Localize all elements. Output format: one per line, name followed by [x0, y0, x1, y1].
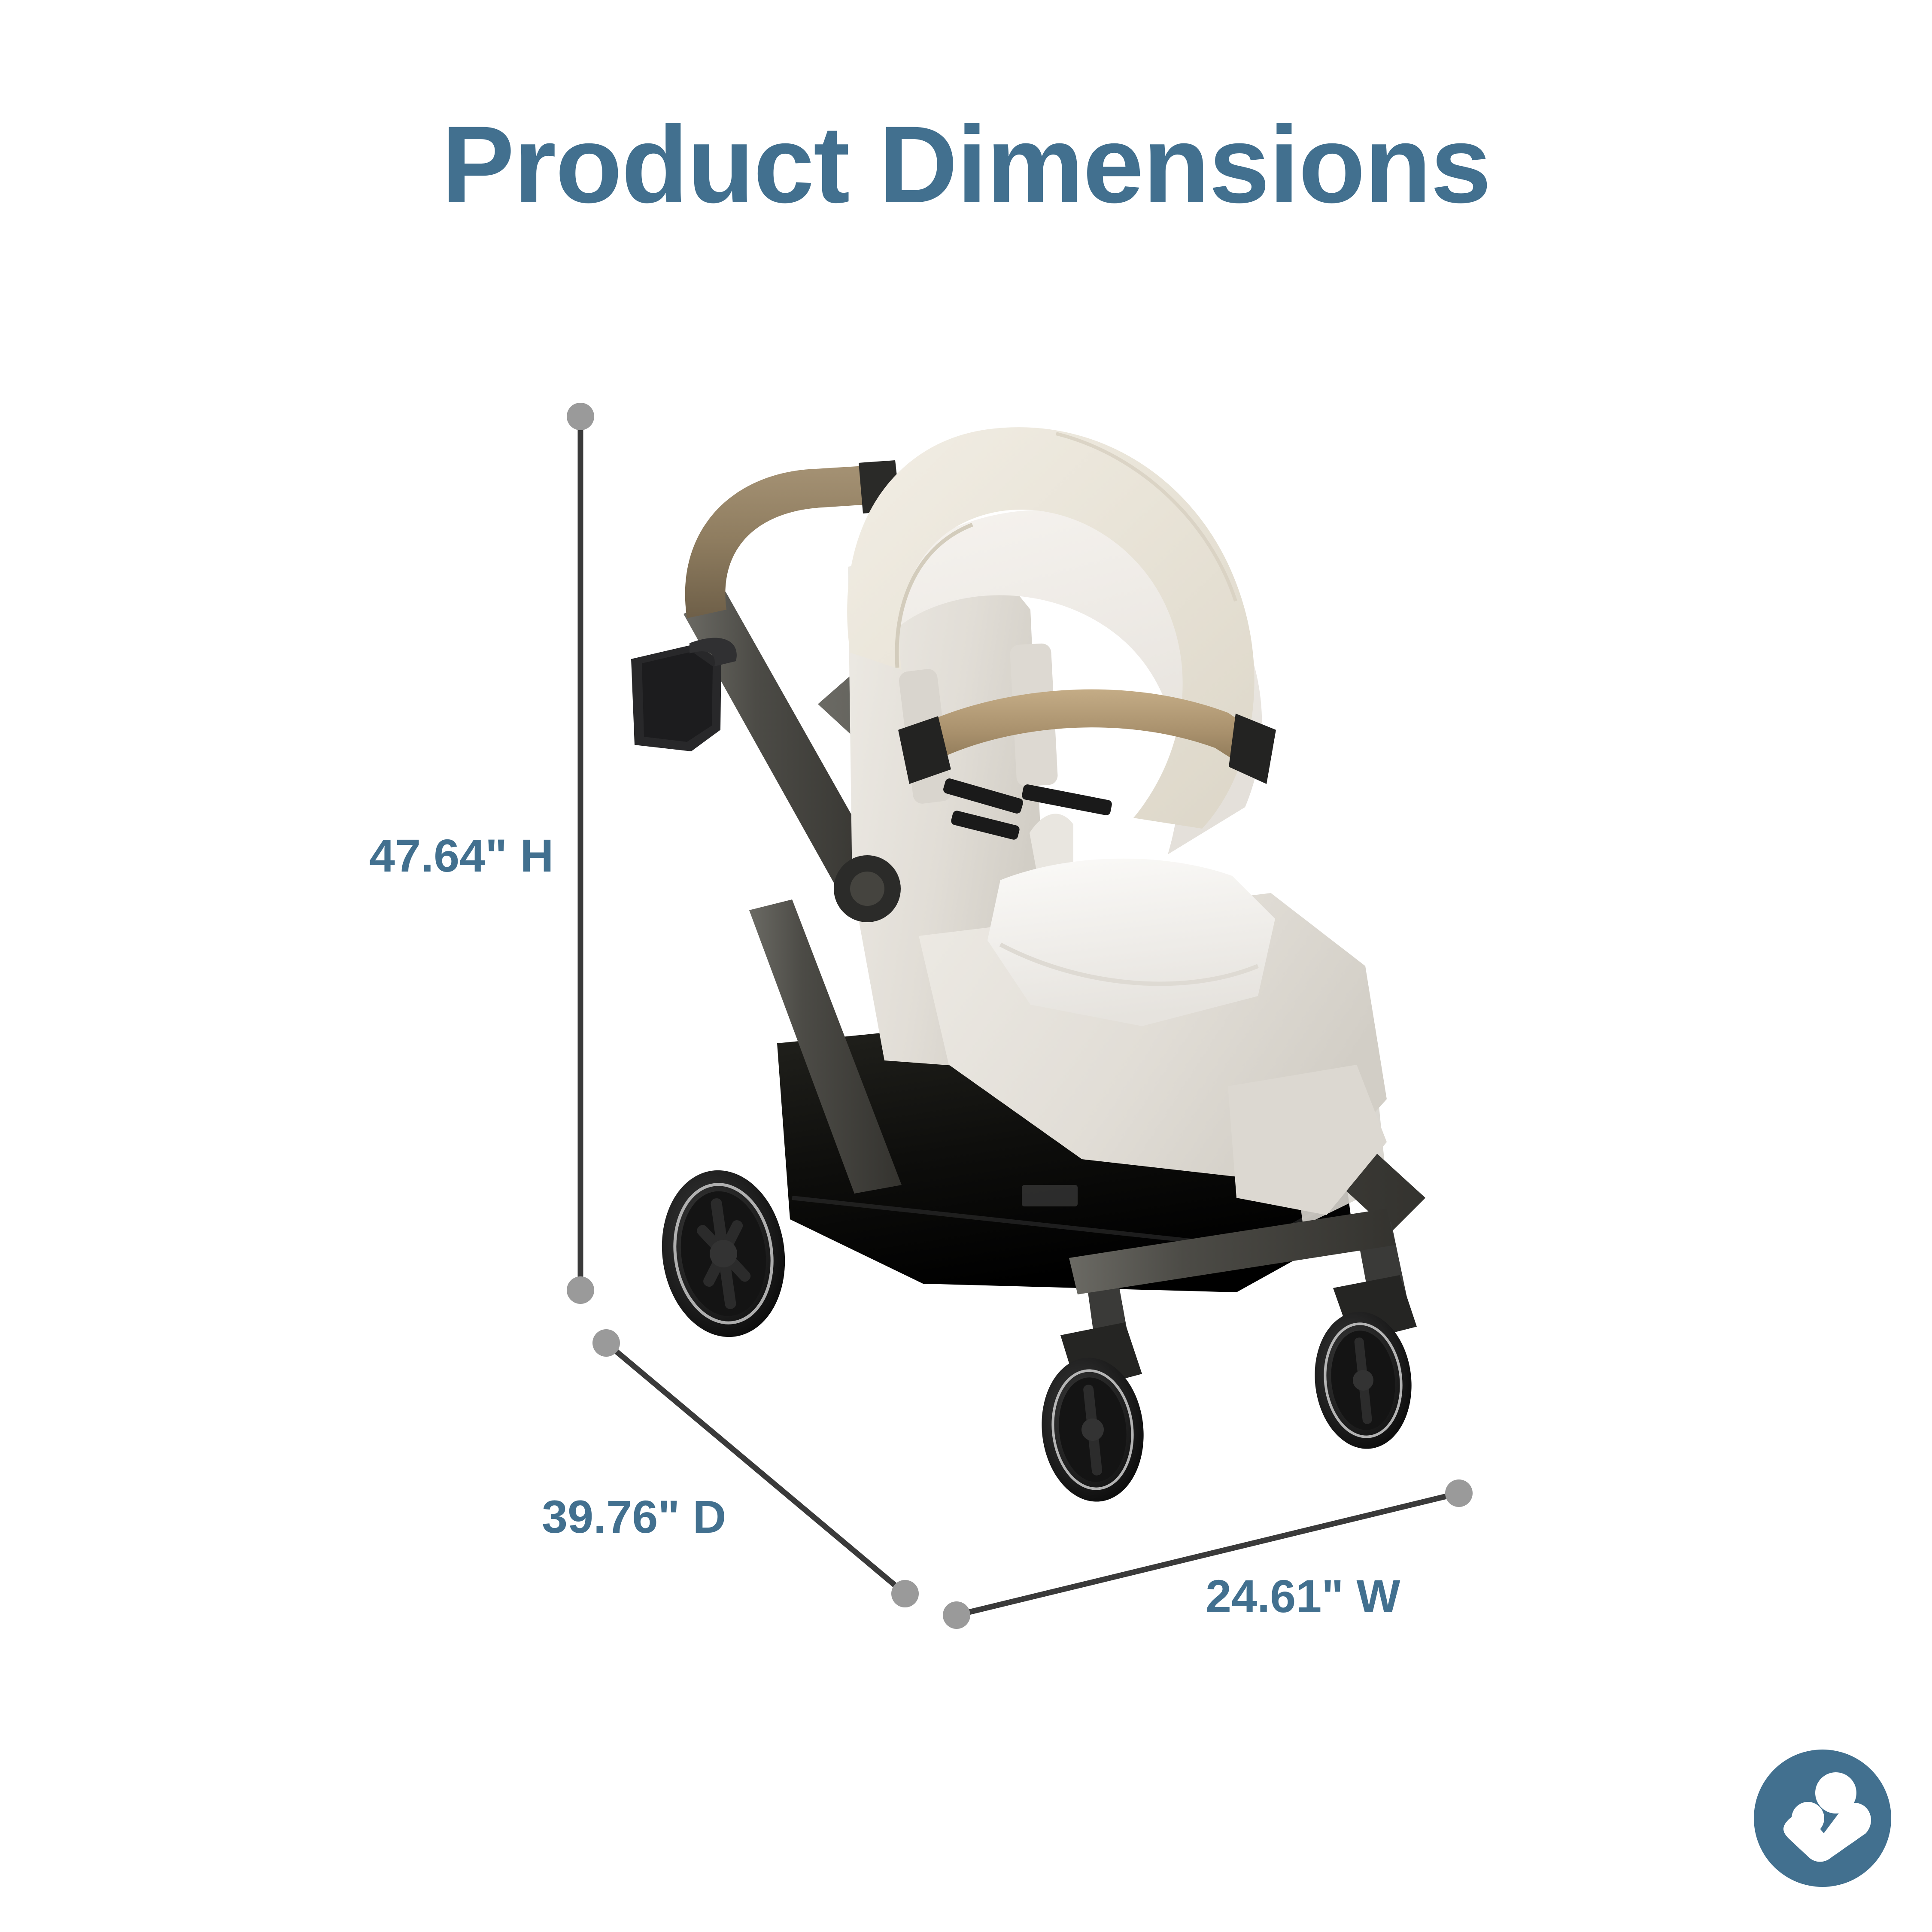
- dimension-lines-overlay: [0, 0, 1932, 1932]
- depth-dimension-line: [606, 1343, 905, 1594]
- width-dimension-label: 24.61" W: [1206, 1569, 1400, 1623]
- height-endpoint-top: [567, 403, 594, 430]
- height-dimension-label: 47.64" H: [369, 829, 553, 882]
- depth-dimension-label: 39.76" D: [542, 1490, 726, 1543]
- product-dimensions-infographic: Product Dimensions: [0, 0, 1932, 1932]
- height-endpoint-bottom: [567, 1276, 594, 1304]
- width-endpoint-start: [943, 1601, 970, 1629]
- brand-logo-icon: [1752, 1747, 1893, 1889]
- width-endpoint-end: [1445, 1479, 1473, 1507]
- depth-endpoint-end: [891, 1580, 919, 1607]
- depth-endpoint-start: [592, 1329, 620, 1357]
